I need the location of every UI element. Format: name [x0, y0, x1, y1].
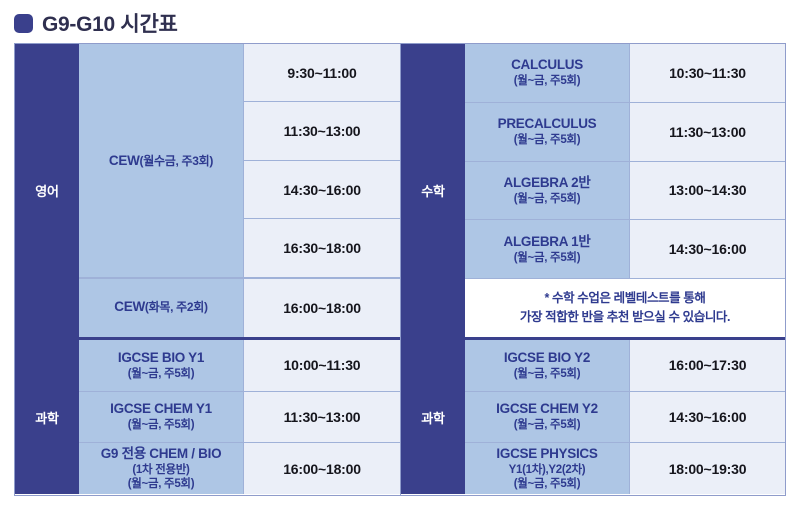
course-name: IGCSE CHEM Y1	[110, 401, 212, 418]
course-cell-cew-mwf: CEW(월수금, 주3회)	[79, 44, 243, 278]
schedule-left-half: 영어 CEW(월수금, 주3회) 9:30~11:00 11:30~13:00 …	[15, 44, 400, 495]
subject-label-math: 수학	[401, 44, 465, 337]
course-cell-cew-tt: CEW(화목, 주2회)	[79, 279, 243, 337]
course-subtitle: (월~금, 주5회)	[514, 192, 580, 206]
course-cell: G9 전용 CHEM / BIO (1차 전용반) (월~금, 주5회)	[79, 443, 243, 494]
subject-label-english: 영어	[15, 44, 79, 337]
course-subtitle: (월~금, 주5회)	[514, 418, 580, 432]
time-cell: 18:00~19:30	[629, 443, 785, 494]
course-name: G9 전용 CHEM / BIO	[101, 446, 222, 463]
subject-label-science-left: 과학	[15, 340, 79, 494]
course-name: PRECALCULUS	[498, 116, 597, 133]
course-subtitle: (월~금, 주5회)	[514, 133, 580, 147]
page-title: G9-G10 시간표	[42, 8, 178, 38]
math-level-test-note: * 수학 수업은 레벨테스트를 통해 가장 적합한 반을 추천 받으실 수 있습…	[465, 279, 785, 337]
course-cell: IGCSE BIO Y2 (월~금, 주5회)	[465, 340, 629, 391]
science-left-rows: IGCSE BIO Y1 (월~금, 주5회) 10:00~11:30 IGCS…	[79, 340, 400, 494]
course-subtitle: (월~금, 주5회)	[514, 251, 580, 265]
english-cew-tt-row: CEW(화목, 주2회) 16:00~18:00	[79, 278, 400, 337]
page-title-bar: G9-G10 시간표	[14, 8, 178, 38]
course-cell: IGCSE CHEM Y2 (월~금, 주5회)	[465, 392, 629, 443]
course-name-cew-mwf: CEW	[109, 153, 140, 168]
course-cell: PRECALCULUS (월~금, 주5회)	[465, 103, 629, 161]
time-cell: 16:30~18:00	[243, 219, 400, 277]
course-cell: ALGEBRA 1반 (월~금, 주5회)	[465, 220, 629, 278]
english-cew-mwf-block: CEW(월수금, 주3회) 9:30~11:00 11:30~13:00 14:…	[79, 44, 400, 278]
course-name: ALGEBRA 2반	[504, 175, 591, 192]
time-cell: 11:30~13:00	[629, 103, 785, 161]
table-row: ALGEBRA 1반 (월~금, 주5회) 14:30~16:00	[465, 220, 785, 279]
table-row: IGCSE PHYSICS Y1(1차),Y2(2차) (월~금, 주5회) 1…	[465, 443, 785, 494]
table-row: CALCULUS (월~금, 주5회) 10:30~11:30	[465, 44, 785, 103]
english-cew-mwf-times: 9:30~11:00 11:30~13:00 14:30~16:00 16:30…	[243, 44, 400, 278]
section-science-left: 과학 IGCSE BIO Y1 (월~금, 주5회) 10:00~11:30 I…	[15, 340, 400, 494]
table-row: G9 전용 CHEM / BIO (1차 전용반) (월~금, 주5회) 16:…	[79, 443, 400, 494]
course-subtitle-2: (월~금, 주5회)	[128, 477, 194, 491]
time-cell: 11:30~13:00	[243, 102, 400, 160]
course-name: IGCSE CHEM Y2	[496, 401, 598, 418]
time-cell: 9:30~11:00	[243, 44, 400, 102]
table-row: IGCSE BIO Y1 (월~금, 주5회) 10:00~11:30	[79, 340, 400, 392]
time-cell: 10:30~11:30	[629, 44, 785, 102]
subject-label-science-right: 과학	[401, 340, 465, 494]
course-cell: IGCSE PHYSICS Y1(1차),Y2(2차) (월~금, 주5회)	[465, 443, 629, 494]
course-subtitle: (월~금, 주5회)	[514, 367, 580, 381]
time-cell: 16:00~17:30	[629, 340, 785, 391]
table-row: IGCSE BIO Y2 (월~금, 주5회) 16:00~17:30	[465, 340, 785, 392]
english-rows: CEW(월수금, 주3회) 9:30~11:00 11:30~13:00 14:…	[79, 44, 400, 337]
section-english: 영어 CEW(월수금, 주3회) 9:30~11:00 11:30~13:00 …	[15, 44, 400, 340]
note-line-1: * 수학 수업은 레벨테스트를 통해	[544, 289, 705, 308]
course-name: IGCSE PHYSICS	[496, 446, 597, 463]
time-cell: 16:00~18:00	[243, 279, 400, 337]
course-subtitle: (월~금, 주5회)	[128, 418, 194, 432]
section-science-right: 과학 IGCSE BIO Y2 (월~금, 주5회) 16:00~17:30 I…	[401, 340, 785, 494]
science-right-rows: IGCSE BIO Y2 (월~금, 주5회) 16:00~17:30 IGCS…	[465, 340, 785, 494]
time-cell: 14:30~16:00	[629, 392, 785, 443]
course-paren-cew-mwf: (월수금, 주3회)	[140, 154, 214, 168]
table-row: IGCSE CHEM Y2 (월~금, 주5회) 14:30~16:00	[465, 392, 785, 444]
time-cell: 16:00~18:00	[243, 443, 400, 494]
course-name: ALGEBRA 1반	[504, 234, 591, 251]
time-cell: 14:30~16:00	[629, 220, 785, 278]
math-rows: CALCULUS (월~금, 주5회) 10:30~11:30 PRECALCU…	[465, 44, 785, 337]
course-name: IGCSE BIO Y2	[504, 350, 590, 367]
course-name: IGCSE BIO Y1	[118, 350, 204, 367]
course-subtitle-2: (월~금, 주5회)	[514, 477, 580, 491]
time-cell: 10:00~11:30	[243, 340, 400, 391]
course-subtitle: (1차 전용반)	[132, 463, 189, 477]
course-cell: IGCSE BIO Y1 (월~금, 주5회)	[79, 340, 243, 391]
square-bullet-icon	[14, 14, 33, 33]
time-cell: 14:30~16:00	[243, 161, 400, 219]
course-cell: CALCULUS (월~금, 주5회)	[465, 44, 629, 102]
table-row: PRECALCULUS (월~금, 주5회) 11:30~13:00	[465, 103, 785, 162]
course-paren-cew-tt: (화목, 주2회)	[145, 300, 208, 314]
schedule-right-half: 수학 CALCULUS (월~금, 주5회) 10:30~11:30 PRECA…	[400, 44, 785, 495]
course-name: CALCULUS	[511, 57, 583, 74]
note-line-2: 가장 적합한 반을 추천 받으실 수 있습니다.	[520, 308, 730, 327]
course-name-cew-tt: CEW	[114, 299, 145, 314]
course-cell: ALGEBRA 2반 (월~금, 주5회)	[465, 162, 629, 220]
table-row: ALGEBRA 2반 (월~금, 주5회) 13:00~14:30	[465, 162, 785, 221]
course-subtitle: (월~금, 주5회)	[128, 367, 194, 381]
schedule-table: 영어 CEW(월수금, 주3회) 9:30~11:00 11:30~13:00 …	[14, 43, 786, 496]
course-subtitle: (월~금, 주5회)	[514, 74, 580, 88]
course-subtitle: Y1(1차),Y2(2차)	[509, 463, 586, 477]
table-row: IGCSE CHEM Y1 (월~금, 주5회) 11:30~13:00	[79, 392, 400, 444]
time-cell: 13:00~14:30	[629, 162, 785, 220]
time-cell: 11:30~13:00	[243, 392, 400, 443]
course-cell: IGCSE CHEM Y1 (월~금, 주5회)	[79, 392, 243, 443]
section-math: 수학 CALCULUS (월~금, 주5회) 10:30~11:30 PRECA…	[401, 44, 785, 340]
